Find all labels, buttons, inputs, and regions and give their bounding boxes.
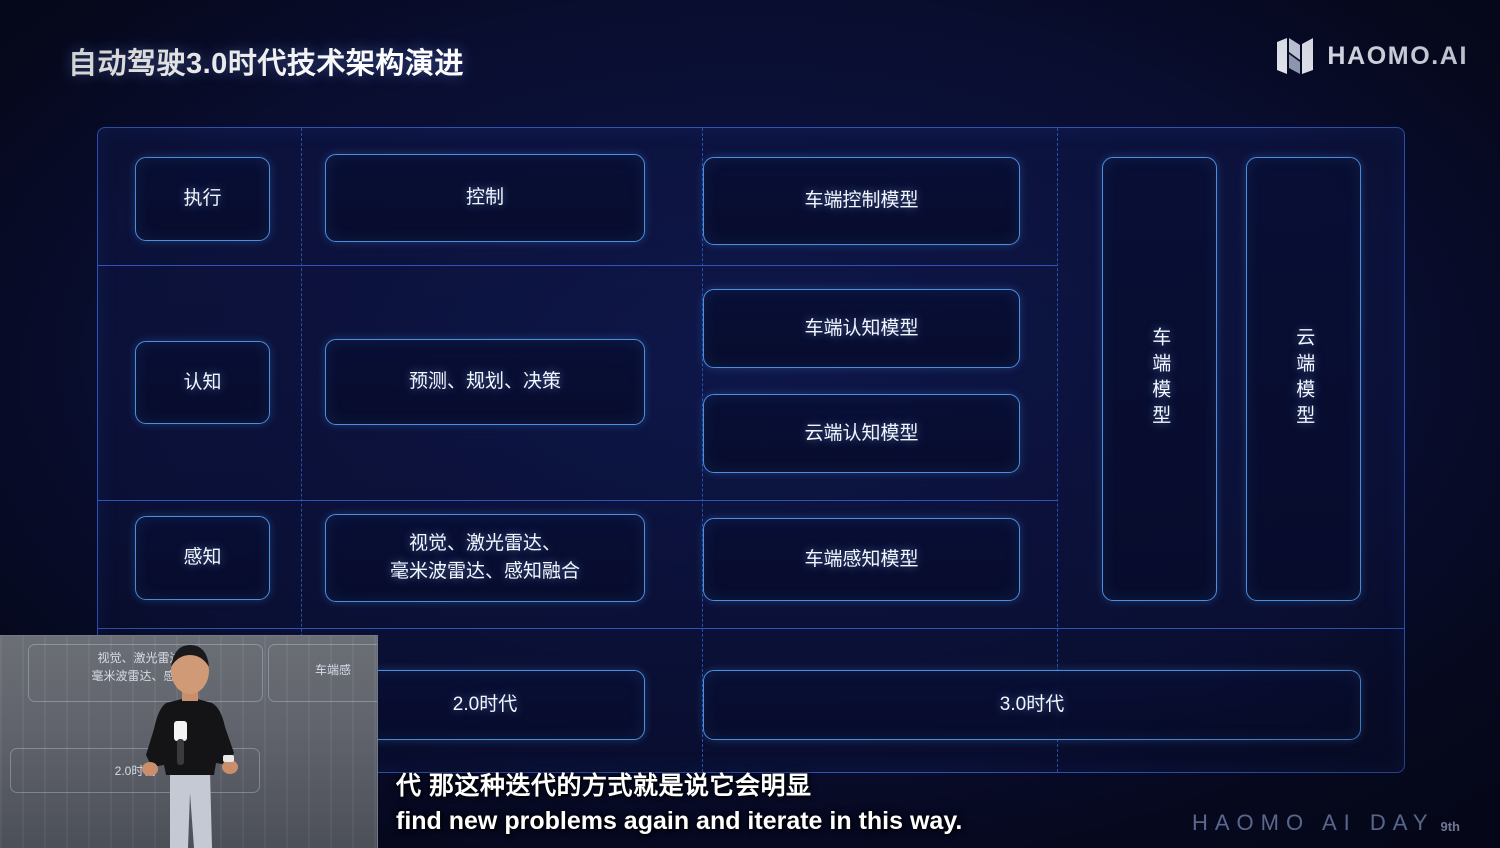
subtitle-english: find new problems again and iterate in t… bbox=[396, 807, 1096, 837]
pillar-cloud-model: 云端模型 bbox=[1246, 157, 1361, 601]
capability-prediction-planning-decision: 预测、规划、决策 bbox=[325, 339, 645, 425]
pillar-vehicle-model: 车端模型 bbox=[1102, 157, 1217, 601]
model-cloud-cognition: 云端认知模型 bbox=[703, 394, 1020, 473]
brand-logo: HAOMO.AI bbox=[1276, 38, 1468, 74]
subtitle-chinese: 代 那这种迭代的方式就是说它会明显 bbox=[396, 772, 1096, 802]
era-3-0: 3.0时代 bbox=[703, 670, 1361, 740]
capability-control: 控制 bbox=[325, 154, 645, 242]
watermark-superscript: 9th bbox=[1441, 819, 1461, 834]
layer-label-cognition: 认知 bbox=[135, 341, 270, 424]
era-section-divider bbox=[98, 628, 1404, 629]
layer-label-execute: 执行 bbox=[135, 157, 270, 241]
presenter-figure bbox=[130, 643, 248, 848]
capability-sensors-fusion: 视觉、激光雷达、 毫米波雷达、感知融合 bbox=[325, 514, 645, 602]
row-divider-1 bbox=[98, 265, 1057, 266]
layer-label-perception: 感知 bbox=[135, 516, 270, 600]
page-title: 自动驾驶3.0时代技术架构演进 bbox=[68, 40, 464, 82]
model-vehicle-cognition: 车端认知模型 bbox=[703, 289, 1020, 368]
brand-name: HAOMO.AI bbox=[1327, 42, 1468, 71]
event-watermark: HAOMO AI DAY 9th bbox=[1192, 810, 1460, 836]
watermark-text: HAOMO AI DAY bbox=[1192, 810, 1435, 836]
haomo-m-logo-icon bbox=[1276, 38, 1314, 74]
row-divider-2 bbox=[98, 500, 1057, 501]
model-vehicle-control: 车端控制模型 bbox=[703, 157, 1020, 245]
subtitle-block: 代 那这种迭代的方式就是说它会明显 find new problems agai… bbox=[396, 772, 1096, 836]
presenter-video-overlay[interactable]: 视觉、激光雷达、 毫米波雷达、感知融 车端感 2.0时代 bbox=[0, 635, 378, 848]
model-vehicle-perception: 车端感知模型 bbox=[703, 518, 1020, 601]
ghost-text-vehicle-perception: 车端感 bbox=[268, 661, 378, 679]
